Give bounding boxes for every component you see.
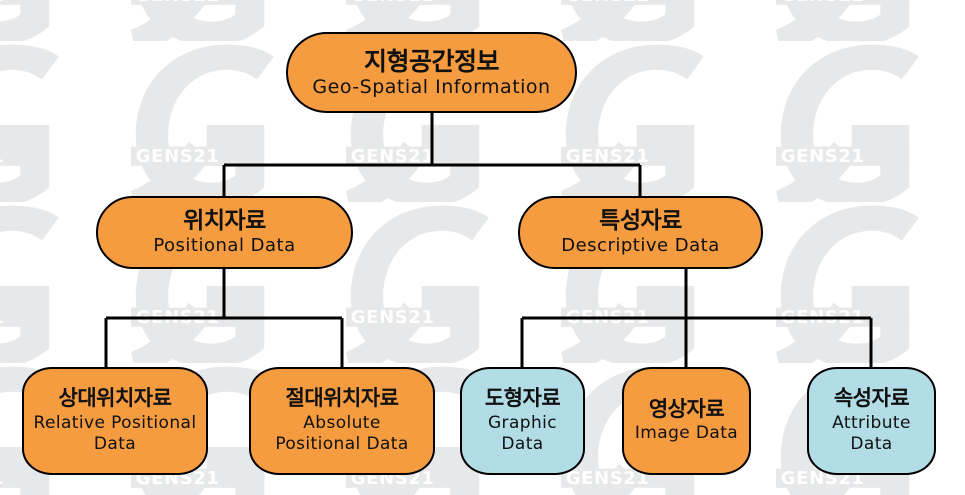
node-label-ko: 위치자료 [183, 209, 266, 234]
node-attribute-data[interactable]: 속성자료 Attribute Data [807, 367, 936, 475]
node-layer: 지형공간정보 Geo-Spatial Information 위치자료 Posi… [0, 0, 965, 495]
node-label-en: Relative Positional Data [31, 413, 199, 456]
node-label-en: Descriptive Data [561, 236, 720, 255]
node-label-en: Attribute Data [820, 413, 924, 456]
node-absolute-positional-data[interactable]: 절대위치자료 Absolute Positional Data [249, 367, 435, 475]
node-graphic-data[interactable]: 도형자료 Graphic Data [460, 367, 585, 475]
diagram-canvas: GENS21 [0, 0, 965, 495]
node-label-ko: 영상자료 [649, 398, 724, 421]
node-relative-positional-data[interactable]: 상대위치자료 Relative Positional Data [22, 367, 208, 475]
node-label-ko: 절대위치자료 [286, 387, 399, 410]
node-label-ko: 특성자료 [599, 209, 682, 234]
node-label-en: Graphic Data [475, 413, 571, 456]
node-label-en: Absolute Positional Data [258, 413, 426, 456]
node-image-data[interactable]: 영상자료 Image Data [622, 367, 751, 475]
node-label-ko: 지형공간정보 [364, 48, 499, 75]
node-geo-spatial-information[interactable]: 지형공간정보 Geo-Spatial Information [286, 32, 577, 113]
node-positional-data[interactable]: 위치자료 Positional Data [96, 196, 353, 269]
node-label-ko: 상대위치자료 [59, 387, 172, 410]
node-descriptive-data[interactable]: 특성자료 Descriptive Data [518, 196, 763, 269]
node-label-en: Positional Data [153, 236, 295, 255]
node-label-ko: 속성자료 [834, 387, 909, 410]
node-label-en: Geo-Spatial Information [312, 77, 550, 98]
node-label-en: Image Data [635, 423, 738, 444]
node-label-ko: 도형자료 [485, 387, 560, 410]
